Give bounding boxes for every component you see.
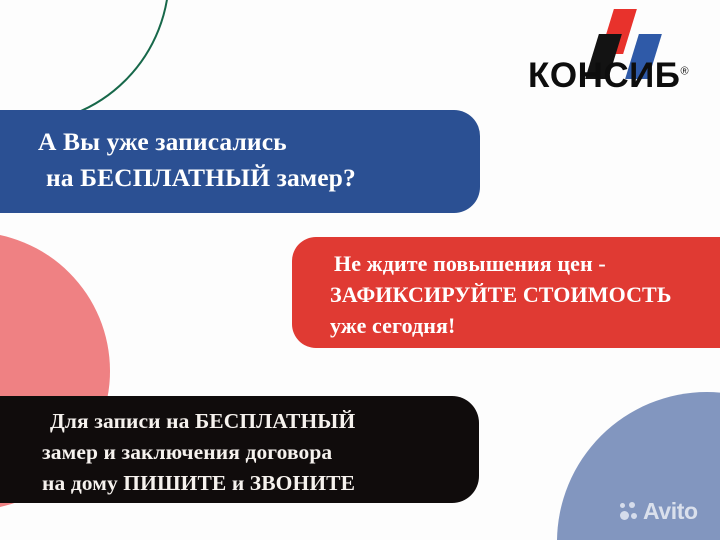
logo-wordmark: КОНСИБ®: [528, 58, 698, 93]
avito-watermark: Avito: [620, 500, 698, 523]
advertisement-poster: КОНСИБ® А Вы уже записались на БЕСПЛАТНЫ…: [0, 0, 720, 540]
banner-black-line-3: на дому ПИШИТЕ и ЗВОНИТЕ: [42, 468, 479, 499]
banner-blue-line-1: А Вы уже записались: [38, 124, 480, 160]
offer-banner-red: Не ждите повышения цен - ЗАФИКСИРУЙТЕ СТ…: [292, 237, 720, 348]
avito-dots-icon: [620, 502, 639, 521]
avito-wordmark: Avito: [643, 500, 698, 523]
logo-wordmark-text: КОНСИБ: [528, 56, 680, 95]
headline-banner-blue: А Вы уже записались на БЕСПЛАТНЫЙ замер?: [0, 110, 480, 213]
banner-red-line-2: ЗАФИКСИРУЙТЕ СТОИМОСТЬ: [330, 279, 720, 310]
contact-banner-black: Для записи на БЕСПЛАТНЫЙ замер и заключе…: [0, 396, 479, 503]
banner-black-line-1: Для записи на БЕСПЛАТНЫЙ: [42, 406, 479, 437]
green-ring-decoration: [0, 0, 170, 125]
banner-blue-line-2: на БЕСПЛАТНЫЙ замер?: [38, 160, 480, 196]
banner-red-line-3: уже сегодня!: [330, 310, 720, 341]
registered-trademark-icon: ®: [680, 65, 688, 77]
banner-black-line-2: замер и заключения договора: [42, 437, 479, 468]
konsib-logo: КОНСИБ®: [528, 8, 698, 102]
banner-red-line-1: Не ждите повышения цен -: [330, 248, 720, 279]
